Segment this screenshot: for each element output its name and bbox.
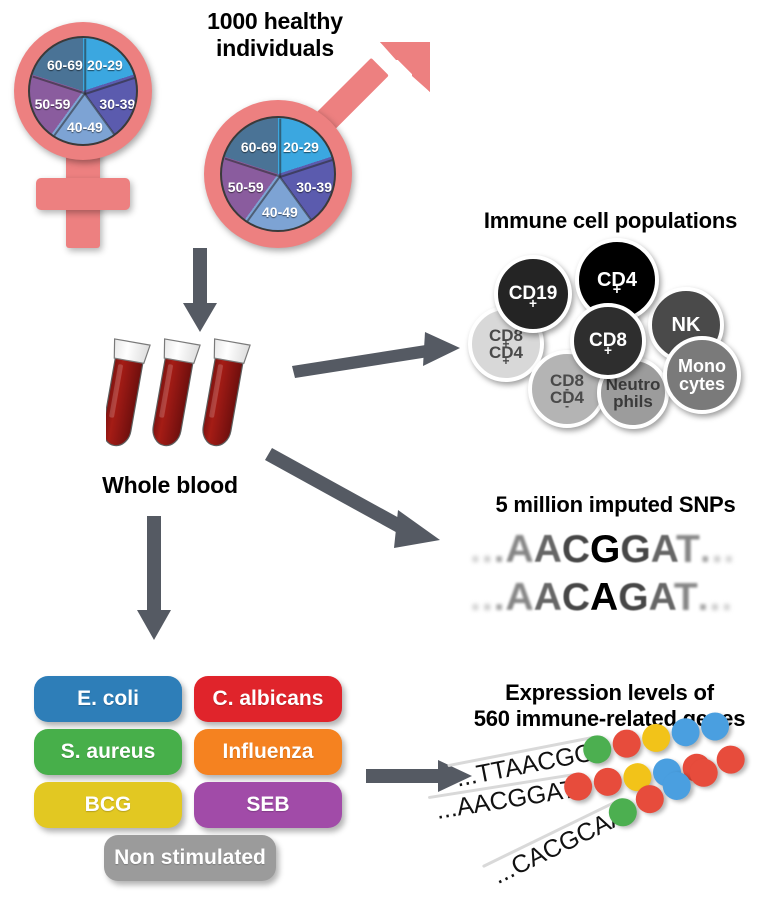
female-symbol: 20-2930-3940-4950-5960-69 xyxy=(4,12,184,242)
pie-slice-label-50-59: 50-59 xyxy=(35,96,71,112)
female-stem-horizontal xyxy=(36,178,130,210)
pie-slice-label-20-29: 20-29 xyxy=(87,57,123,73)
label-whole-blood: Whole blood xyxy=(60,472,280,499)
stimulus-label: S. aureus xyxy=(61,740,156,764)
pie-slice-label-40-49: 40-49 xyxy=(262,204,298,220)
pie-slice-divider xyxy=(32,76,85,94)
pie-slice-label-60-69: 60-69 xyxy=(47,57,83,73)
pie-slice-divider xyxy=(280,158,336,177)
snp-sequences: ...AACGGAT......AACAGAT... xyxy=(470,528,770,620)
pie-slice-divider xyxy=(225,158,281,177)
stimulus-label: BCG xyxy=(85,793,132,817)
immune-cell-label: CD19+ xyxy=(509,284,558,303)
page-title-immune: Immune cell populations xyxy=(450,208,771,234)
pie-slice-label-30-39: 30-39 xyxy=(99,96,135,112)
pie-slice-divider xyxy=(85,76,138,94)
female-age-pie: 20-2930-3940-4950-5960-69 xyxy=(28,36,138,146)
stimulus-label: SEB xyxy=(246,793,289,817)
whole-blood-tubes xyxy=(106,334,286,464)
male-symbol: 20-2930-3940-4950-5960-69 xyxy=(196,38,426,248)
immune-cell-label: Neutrophils xyxy=(606,376,661,411)
immune-cell-label: CD8-CD4- xyxy=(550,372,584,407)
page-title-snps: 5 million imputed SNPs xyxy=(460,492,771,518)
pie-slice-label-50-59: 50-59 xyxy=(228,179,264,195)
immune-cell-label: NK xyxy=(672,315,701,335)
stimulus-label: E. coli xyxy=(77,687,139,711)
page-title-expression-line1: Expression levels of xyxy=(448,680,771,706)
pie-slice-label-60-69: 60-69 xyxy=(241,139,277,155)
arrow-blood-to-stimuli xyxy=(132,516,176,642)
pie-slice-label-30-39: 30-39 xyxy=(296,179,332,195)
stimulus-label: C. albicans xyxy=(213,687,324,711)
stimulus-label: Non stimulated xyxy=(114,846,266,870)
immune-cell-label: CD4+ xyxy=(597,270,637,290)
stimulus-pill-nonstimulated[interactable]: Non stimulated xyxy=(104,835,276,881)
page-title-cohort-line1: 1000 healthy xyxy=(170,8,380,35)
male-age-pie: 20-2930-3940-4950-5960-69 xyxy=(220,116,336,232)
immune-cell-label: CD8+ xyxy=(589,331,627,350)
pie-slice-label-40-49: 40-49 xyxy=(67,119,103,135)
stimulus-pill-bcg[interactable]: BCG xyxy=(34,782,182,828)
stimulus-pill-saureus[interactable]: S. aureus xyxy=(34,729,182,775)
immune-cell-cd19[interactable]: CD19+ xyxy=(494,255,572,333)
expression-strands: ...TTAACGG...AACGGAT...CACGCAA xyxy=(440,738,771,918)
arrow-blood-to-immune xyxy=(292,330,460,378)
immune-cell-cd8[interactable]: CD8+ xyxy=(570,303,646,379)
stimulus-label: Influenza xyxy=(222,740,313,764)
stimuli-panel: E. coliC. albicansS. aureusInfluenzaBCGS… xyxy=(34,676,344,896)
stimulus-pill-ecoli[interactable]: E. coli xyxy=(34,676,182,722)
pie-slice-divider xyxy=(84,39,86,94)
pie-slice-label-20-29: 20-29 xyxy=(283,139,319,155)
snp-sequence-line-1: ...AACGGAT... xyxy=(470,528,735,572)
arrow-cohort-to-blood xyxy=(178,248,222,334)
arrow-blood-to-snps xyxy=(272,448,452,558)
immune-cell-label: CD8+CD4+ xyxy=(489,327,523,362)
expression-bead-red xyxy=(610,727,643,760)
stimulus-pill-influenza[interactable]: Influenza xyxy=(194,729,342,775)
stimulus-pill-seb[interactable]: SEB xyxy=(194,782,342,828)
immune-cell-label: Monocytes xyxy=(678,357,726,394)
expression-bead-yellow xyxy=(640,722,673,755)
snp-sequence-line-2: ...AACAGAT... xyxy=(470,576,733,620)
stimulus-pill-calbicans[interactable]: C. albicans xyxy=(194,676,342,722)
pie-slice-divider xyxy=(279,119,281,177)
expression-bead-blue xyxy=(669,716,702,749)
immune-cell-monocytes[interactable]: Monocytes xyxy=(663,336,741,414)
